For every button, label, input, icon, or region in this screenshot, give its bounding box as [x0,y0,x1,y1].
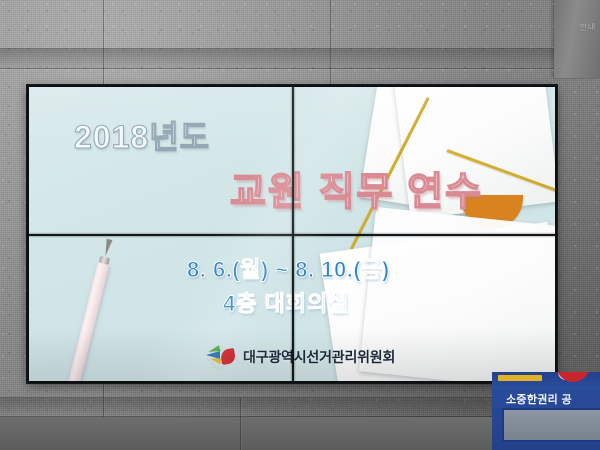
sign-slogan-text: 소중한권리 공 [506,391,572,407]
photo-scene: 안내 2018년도 [0,0,600,450]
pen-lower-tip [103,239,113,257]
wall-seam-horizontal-ledge [0,68,600,69]
video-wall-display[interactable]: 2018년도 교원 직무 연수 8. 6.(월) ~ 8. 10.(금) 4층 … [27,85,557,383]
wall-ledge-shadow [0,49,600,69]
organization-footer: 대구광역시선거관리위원회 [205,345,395,369]
wall-seam-vertical-mid [330,0,331,86]
blue-info-sign[interactable]: 소중한권리 공 [492,372,600,450]
event-date-range: 8. 6.(월) ~ 8. 10.(금) [187,252,390,284]
video-wall-bezel-horizontal [29,234,555,236]
sign-emblem-red [556,372,590,382]
sign-header-band [492,372,600,389]
wall-fin-label: 안내 [580,22,596,34]
screen-surface: 2018년도 교원 직무 연수 8. 6.(월) ~ 8. 10.(금) 4층 … [29,87,555,381]
organization-name: 대구광역시선거관리위원회 [243,347,395,367]
pen-lower-body [57,260,110,381]
year-label: 2018년도 [74,112,210,158]
wall-fin-panel: 안내 [554,0,600,78]
sign-yellow-stripe [498,375,542,381]
nec-bird-emblem-icon [205,345,237,369]
event-title: 교원 직무 연수 [230,161,483,217]
emblem-bird-red [220,348,236,365]
event-location: 4층 대회의실 [223,286,350,318]
sign-display-panel [502,408,600,442]
wall-seam-vertical-skirt [240,398,241,450]
